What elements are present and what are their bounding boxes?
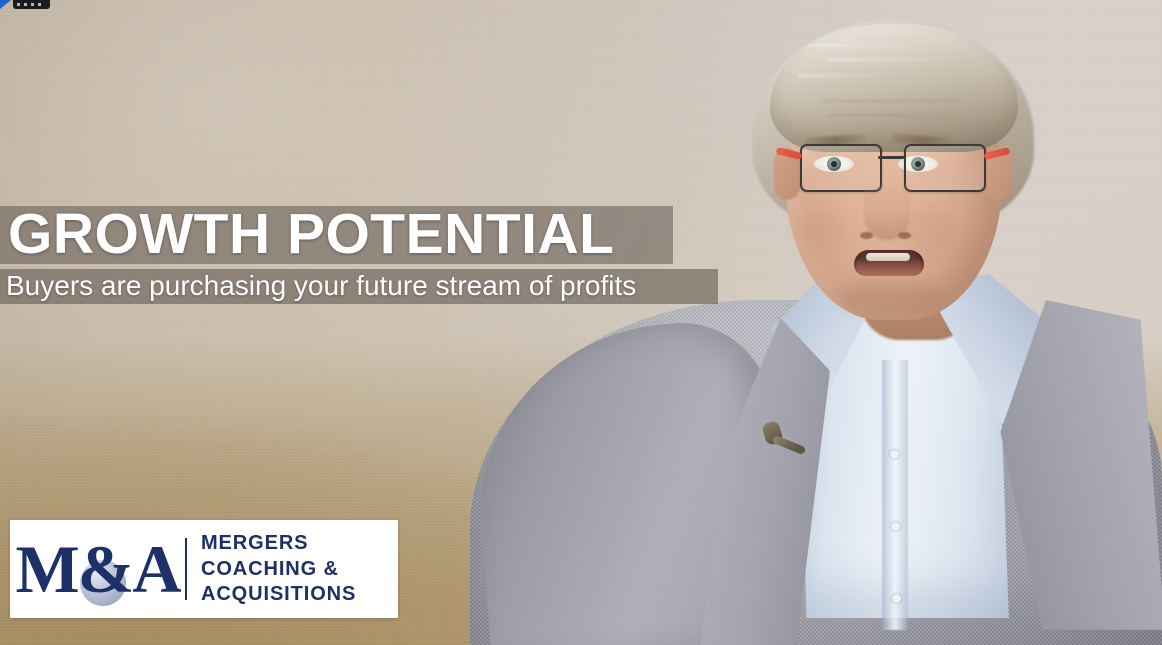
logo-line-1: MERGERS [201,532,356,554]
shirt-button [892,594,901,603]
chin-shadow [838,282,942,312]
hair-strand [808,44,918,47]
teeth [866,253,910,261]
logo-monogram-area: M&A [10,520,185,618]
player-tick [38,3,41,6]
player-tick [31,3,34,6]
player-control-bar[interactable] [13,0,50,9]
subject-torso [470,300,1162,645]
player-tick [24,3,27,6]
video-frame: GROWTH POTENTIAL Buyers are purchasing y… [0,0,1162,645]
logo-line-3: ACQUISITIONS [201,583,356,605]
nostril-left [860,232,873,239]
logo-divider [185,538,187,600]
logo-wordmark: MERGERS COACHING & ACQUISITIONS [201,532,356,605]
cheek-left [798,208,846,252]
eyeglass-lens-right [904,144,986,192]
brand-logo: M&A MERGERS COACHING & ACQUISITIONS [10,520,398,618]
shirt-button [890,450,899,459]
mouth [854,250,924,276]
shirt-button [891,522,900,531]
forehead-line [822,100,962,102]
forehead-line [826,114,956,116]
eyeglass-bridge [878,156,906,159]
logo-monogram: M&A [16,535,180,603]
shirt-placket [882,360,908,630]
nostril-right [898,232,911,239]
player-tick [17,3,20,6]
logo-line-2: COACHING & [201,558,356,580]
hair-strand [798,74,888,77]
nose [864,178,910,240]
player-marker-icon[interactable] [0,0,11,9]
hair-strand [828,58,958,61]
overlay-title: GROWTH POTENTIAL [8,200,698,268]
microphone-clip-arm [772,435,807,455]
subject-head [768,26,1018,326]
lavalier-microphone-icon [762,422,808,458]
cheek-right [908,208,956,252]
video-player-control-fragment[interactable] [0,0,52,11]
overlay-subtitle: Buyers are purchasing your future stream… [6,268,746,304]
